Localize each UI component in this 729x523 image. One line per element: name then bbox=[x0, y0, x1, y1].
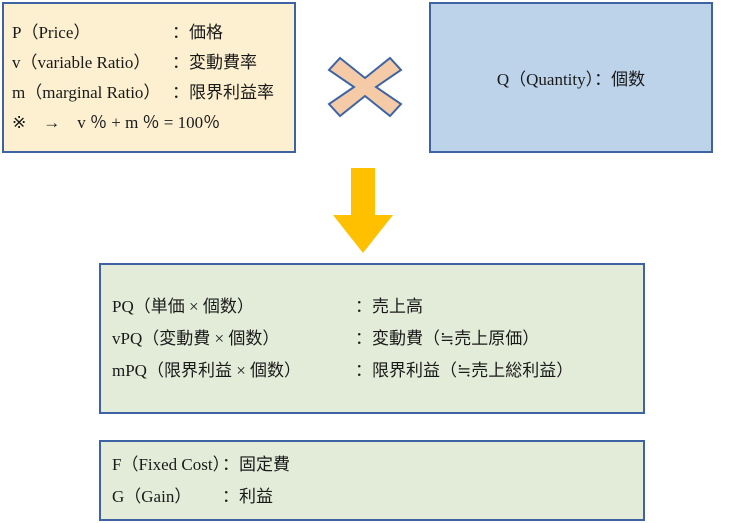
diagram-canvas: P（Price） ：価格 v（variable Ratio） ：変動費率 m（m… bbox=[0, 0, 729, 523]
result-row: PQ（単価 × 個数） ：売上高 bbox=[112, 291, 643, 323]
result-term: PQ（単価 × 個数） bbox=[112, 291, 355, 323]
result-desc: ：変動費（≒売上原価） bbox=[355, 323, 539, 355]
price-definition-box: P（Price） ：価格 v（variable Ratio） ：変動費率 m（m… bbox=[2, 2, 296, 153]
definition-desc: ：変動費率 bbox=[172, 48, 257, 78]
quantity-text: Q（Quantity）：個数 bbox=[431, 65, 711, 90]
result-row: mPQ（限界利益 × 個数） ：限界利益（≒売上総利益） bbox=[112, 355, 643, 387]
result-desc: ：限界利益（≒売上総利益） bbox=[355, 355, 573, 387]
fixed-gain-term: G（Gain） bbox=[112, 481, 222, 513]
definition-row: P（Price） ：価格 bbox=[12, 18, 294, 48]
definition-row: v（variable Ratio） ：変動費率 bbox=[12, 48, 294, 78]
results-box: PQ（単価 × 個数） ：売上高 vPQ（変動費 × 個数） ：変動費（≒売上原… bbox=[99, 263, 645, 414]
fixed-gain-row: G（Gain） ：利益 bbox=[112, 481, 643, 513]
definition-row: m（marginal Ratio） ：限界利益率 bbox=[12, 78, 294, 108]
result-term: mPQ（限界利益 × 個数） bbox=[112, 355, 355, 387]
fixed-gain-term: F（Fixed Cost） bbox=[112, 449, 222, 481]
result-term: vPQ（変動費 × 個数） bbox=[112, 323, 355, 355]
definition-term: v（variable Ratio） bbox=[12, 48, 172, 78]
result-row: vPQ（変動費 × 個数） ：変動費（≒売上原価） bbox=[112, 323, 643, 355]
price-definition-note: ※ → v ％ + m ％ = 100％ bbox=[12, 108, 294, 138]
fixed-gain-lines: F（Fixed Cost） ：固定費 G（Gain） ：利益 bbox=[101, 449, 643, 513]
definition-term: P（Price） bbox=[12, 18, 172, 48]
fixed-gain-row: F（Fixed Cost） ：固定費 bbox=[112, 449, 643, 481]
definition-desc: ：限界利益率 bbox=[172, 78, 274, 108]
fixed-gain-desc: ：固定費 bbox=[222, 449, 290, 481]
multiply-cross-icon bbox=[327, 56, 403, 118]
fixed-cost-gain-box: F（Fixed Cost） ：固定費 G（Gain） ：利益 bbox=[99, 440, 645, 521]
result-desc: ：売上高 bbox=[355, 291, 423, 323]
definition-term: m（marginal Ratio） bbox=[12, 78, 172, 108]
quantity-box: Q（Quantity）：個数 bbox=[429, 2, 713, 153]
price-definition-lines: P（Price） ：価格 v（variable Ratio） ：変動費率 m（m… bbox=[4, 18, 294, 138]
results-lines: PQ（単価 × 個数） ：売上高 vPQ（変動費 × 個数） ：変動費（≒売上原… bbox=[101, 291, 643, 387]
fixed-gain-desc: ：利益 bbox=[222, 481, 273, 513]
down-arrow-icon bbox=[332, 168, 394, 254]
definition-desc: ：価格 bbox=[172, 18, 223, 48]
